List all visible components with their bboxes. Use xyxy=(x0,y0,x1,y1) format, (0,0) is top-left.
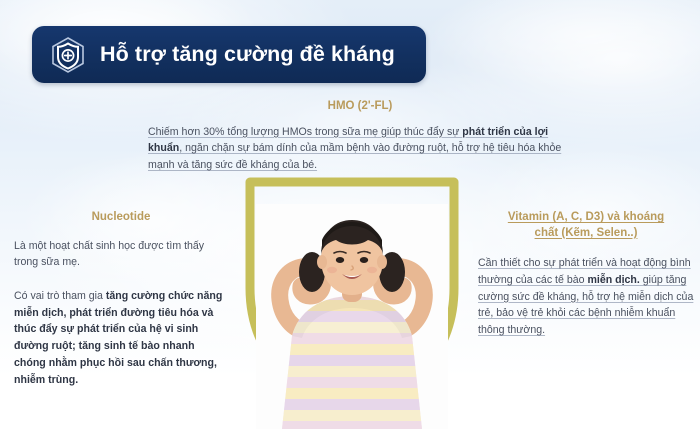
shield-illustration xyxy=(234,176,470,429)
hmo-section: HMO (2'-FL) Chiếm hơn 30% tổng lượng HMO… xyxy=(148,99,572,174)
nucleotide-heading: Nucleotide xyxy=(14,210,228,226)
infographic-page: Hỗ trợ tăng cường đề kháng HMO (2'-FL) C… xyxy=(0,0,700,429)
vitamin-heading-line-2: chất (Kẽm, Selen..) xyxy=(535,227,638,239)
vitamin-heading-line-1: Vitamin (A, C, D3) và khoáng xyxy=(508,211,664,223)
girl-flexing-arms-photo xyxy=(256,204,448,429)
nucleotide-paragraph-2: Có vai trò tham gia tăng cường chức năng… xyxy=(14,288,228,388)
hmo-paragraph: Chiếm hơn 30% tổng lượng HMOs trong sữa … xyxy=(148,124,572,174)
page-title: Hỗ trợ tăng cường đề kháng xyxy=(100,44,395,66)
nucleotide-paragraph-1: Là một hoạt chất sinh học được tìm thấy … xyxy=(14,238,228,271)
header-banner: Hỗ trợ tăng cường đề kháng xyxy=(32,26,426,83)
vitamin-paragraph: Cần thiết cho sự phát triển và hoạt động… xyxy=(478,255,694,339)
shield-plus-hexagon-icon xyxy=(50,36,86,74)
vitamin-heading: Vitamin (A, C, D3) và khoáng chất (Kẽm, … xyxy=(478,210,694,241)
vitamin-section: Vitamin (A, C, D3) và khoáng chất (Kẽm, … xyxy=(478,210,694,339)
hmo-heading: HMO (2'-FL) xyxy=(148,99,572,115)
nucleotide-section: Nucleotide Là một hoạt chất sinh học đượ… xyxy=(14,210,228,388)
cloud-blotch xyxy=(430,0,700,90)
